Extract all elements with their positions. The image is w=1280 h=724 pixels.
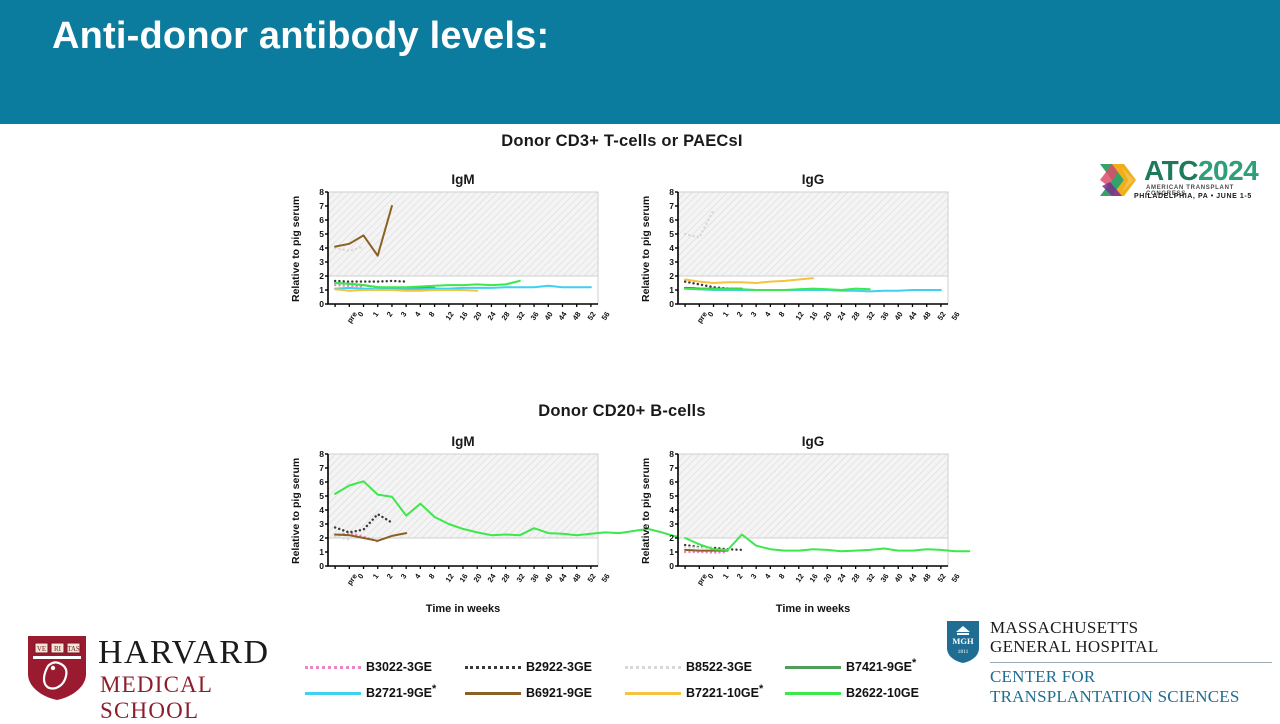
x-tick-label: 44 (907, 310, 919, 322)
x-tick-label: 8 (777, 572, 787, 581)
x-tick-label: 56 (599, 310, 611, 322)
y-axis-label: Relative to pig serum (290, 458, 302, 564)
mgh-center-line1: CENTER FOR (990, 667, 1239, 687)
x-tick-label: 28 (850, 572, 862, 584)
y-axis-label: Relative to pig serum (640, 196, 652, 302)
svg-text:TAS: TAS (67, 645, 80, 653)
x-tick-label: 24 (836, 572, 848, 584)
x-tick-label: 56 (949, 572, 961, 584)
panel-cd3-igm: IgMRelative to pig serum012345678pre0123… (282, 172, 612, 332)
x-tick-label: 32 (514, 310, 526, 322)
y-tick-label: 7 (319, 202, 324, 211)
x-tick-label: 3 (749, 310, 759, 319)
y-tick-label: 8 (669, 188, 674, 197)
header-banner: Anti-donor antibody levels: (0, 0, 1280, 124)
x-tick-label: 28 (850, 310, 862, 322)
x-tick-label: 4 (413, 310, 423, 319)
y-tick-label: 2 (669, 272, 674, 281)
x-axis-label: Time in weeks (328, 603, 598, 615)
x-tick-label: 36 (528, 572, 540, 584)
series-line (685, 552, 728, 553)
y-tick-label: 7 (669, 202, 674, 211)
x-tick-label: 52 (935, 572, 947, 584)
group-title-cd3: Donor CD3+ T-cells or PAECsI (282, 132, 962, 151)
panel-cd20-igg: IgGRelative to pig serum012345678pre0123… (632, 434, 962, 624)
atc-2024-logo: ATC2024 AMERICAN TRANSPLANT CONGRESS PHI… (1098, 158, 1270, 206)
y-tick-label: 1 (319, 548, 324, 557)
panel-title: IgM (328, 434, 598, 449)
x-tick-label: 44 (907, 572, 919, 584)
y-tick-label: 0 (319, 562, 324, 571)
x-tick-label: 16 (457, 572, 469, 584)
svg-text:1811: 1811 (958, 649, 969, 655)
x-tick-label: 32 (864, 310, 876, 322)
y-tick-label: 4 (669, 506, 674, 515)
y-tick-label: 7 (669, 464, 674, 473)
legend-label: B2622-10GE (846, 686, 919, 700)
legend-swatch (305, 666, 361, 669)
x-tick-label: 3 (749, 572, 759, 581)
x-tick-label: 48 (571, 310, 583, 322)
svg-text:MGH: MGH (952, 636, 974, 646)
legend-asterisk: * (912, 657, 916, 669)
harvard-medical-school-logo: VE RI TAS HARVARD MEDICAL SCHOOL (20, 632, 298, 704)
plot-area (328, 192, 600, 306)
x-tick-label: 32 (514, 572, 526, 584)
panel-title: IgM (328, 172, 598, 187)
harvard-shield-icon: VE RI TAS (26, 634, 88, 702)
x-tick-label: 56 (949, 310, 961, 322)
y-tick-label: 3 (669, 258, 674, 267)
legend-label: B7421-9GE* (846, 660, 916, 674)
x-tick-label: 20 (822, 310, 834, 322)
x-tick-label: 2 (735, 310, 745, 319)
x-tick-label: 1 (370, 310, 380, 319)
group-title-cd20: Donor CD20+ B-cells (282, 402, 962, 421)
panel-cd3-igg: IgGRelative to pig serum012345678pre0123… (632, 172, 962, 332)
x-tick-label: 4 (763, 310, 773, 319)
x-tick-label: 3 (399, 572, 409, 581)
mgh-center-name: CENTER FOR TRANSPLANTATION SCIENCES (990, 667, 1239, 707)
y-tick-label: 1 (319, 286, 324, 295)
y-tick-label: 4 (319, 506, 324, 515)
y-tick-label: 4 (669, 244, 674, 253)
x-tick-label: 24 (486, 572, 498, 584)
legend-label: B3022-3GE (366, 660, 432, 674)
y-tick-label: 3 (669, 520, 674, 529)
x-tick-label: 12 (443, 310, 455, 322)
y-tick-label: 8 (669, 450, 674, 459)
legend-swatch (305, 692, 361, 695)
x-tick-label: 52 (585, 310, 597, 322)
plot-area (328, 454, 600, 568)
x-tick-label: 24 (486, 310, 498, 322)
legend-swatch (465, 692, 521, 695)
harvard-subtitle: MEDICAL SCHOOL (100, 672, 298, 724)
y-tick-label: 0 (669, 562, 674, 571)
y-tick-label: 6 (319, 216, 324, 225)
y-tick-label: 6 (669, 216, 674, 225)
x-tick-label: 48 (921, 572, 933, 584)
x-tick-label: 40 (543, 572, 555, 584)
legend-label: B6921-9GE (526, 686, 592, 700)
x-tick-label: 20 (472, 572, 484, 584)
x-tick-label: 40 (893, 310, 905, 322)
x-tick-label: 32 (864, 572, 876, 584)
x-tick-label: 52 (585, 572, 597, 584)
x-tick-label: 8 (427, 310, 437, 319)
y-tick-label: 5 (669, 492, 674, 501)
x-tick-label: 2 (385, 310, 395, 319)
y-tick-label: 8 (319, 450, 324, 459)
x-tick-label: 4 (763, 572, 773, 581)
y-tick-label: 1 (669, 286, 674, 295)
legend-label: B2922-3GE (526, 660, 592, 674)
y-tick-label: 5 (669, 230, 674, 239)
x-tick-label: 28 (500, 572, 512, 584)
x-tick-label: 40 (543, 310, 555, 322)
y-axis-label: Relative to pig serum (290, 196, 302, 302)
legend-item: B2922-3GE (465, 660, 625, 674)
legend-label: B8522-3GE (686, 660, 752, 674)
plot-area (678, 192, 950, 306)
legend-item: B6921-9GE (465, 686, 625, 700)
legend-swatch (625, 666, 681, 669)
panel-title: IgG (678, 434, 948, 449)
x-tick-label: 48 (571, 572, 583, 584)
plot-area (678, 454, 950, 568)
x-tick-label: 16 (457, 310, 469, 322)
x-tick-label: 12 (443, 572, 455, 584)
page-title: Anti-donor antibody levels: (52, 15, 549, 58)
y-axis-label: Relative to pig serum (640, 458, 652, 564)
legend-label: B7221-10GE* (686, 686, 763, 700)
x-tick-label: 12 (793, 572, 805, 584)
y-tick-label: 3 (319, 520, 324, 529)
x-tick-label: 40 (893, 572, 905, 584)
x-tick-label: 4 (413, 572, 423, 581)
y-tick-label: 1 (669, 548, 674, 557)
svg-text:VE: VE (37, 645, 46, 653)
legend-swatch (785, 692, 841, 695)
x-tick-label: 56 (599, 572, 611, 584)
legend-item: B8522-3GE (625, 660, 785, 674)
figure-container: Donor CD3+ T-cells or PAECsI IgMRelative… (282, 128, 962, 708)
x-tick-label: 2 (735, 572, 745, 581)
legend-swatch (465, 666, 521, 669)
x-tick-label: 8 (777, 310, 787, 319)
x-tick-label: 2 (385, 572, 395, 581)
mgh-cts-logo: MGH 1811 MASSACHUSETTS GENERAL HOSPITAL … (946, 618, 1276, 710)
chart-legend: B3022-3GEB2922-3GEB8522-3GEB7421-9GE*B27… (305, 654, 945, 706)
y-tick-label: 6 (669, 478, 674, 487)
legend-swatch (625, 692, 681, 695)
x-tick-label: 1 (720, 310, 730, 319)
y-tick-label: 7 (319, 464, 324, 473)
x-tick-label: 36 (878, 310, 890, 322)
x-tick-label: 48 (921, 310, 933, 322)
x-tick-label: 24 (836, 310, 848, 322)
legend-item: B7421-9GE* (785, 660, 945, 674)
y-tick-label: 6 (319, 478, 324, 487)
harvard-wordmark: HARVARD (98, 634, 270, 672)
x-tick-label: 3 (399, 310, 409, 319)
y-tick-label: 2 (319, 272, 324, 281)
panel-cd20-igm: IgMRelative to pig serum012345678pre0123… (282, 434, 612, 624)
x-tick-label: 1 (370, 572, 380, 581)
mgh-shield-icon: MGH 1811 (946, 620, 980, 664)
legend-label: B2721-9GE* (366, 686, 436, 700)
legend-item: B7221-10GE* (625, 686, 785, 700)
legend-item: B3022-3GE (305, 660, 465, 674)
y-tick-label: 0 (669, 300, 674, 309)
atc-location: PHILADELPHIA, PA • JUNE 1-5 (1134, 193, 1252, 200)
y-tick-label: 2 (669, 534, 674, 543)
svg-text:RI: RI (54, 645, 62, 653)
legend-item: B2622-10GE (785, 686, 945, 700)
x-tick-label: 16 (807, 572, 819, 584)
x-tick-label: 36 (878, 572, 890, 584)
y-tick-label: 5 (319, 230, 324, 239)
y-tick-label: 2 (319, 534, 324, 543)
y-tick-label: 0 (319, 300, 324, 309)
mgh-name-line2: GENERAL HOSPITAL (990, 637, 1159, 656)
mgh-center-line2: TRANSPLANTATION SCIENCES (990, 687, 1239, 707)
x-tick-label: 28 (500, 310, 512, 322)
panel-title: IgG (678, 172, 948, 187)
x-tick-label: 1 (720, 572, 730, 581)
legend-swatch (785, 666, 841, 669)
x-tick-label: 44 (557, 310, 569, 322)
y-tick-label: 8 (319, 188, 324, 197)
legend-asterisk: * (759, 683, 763, 695)
series-line (335, 281, 520, 287)
y-tick-label: 5 (319, 492, 324, 501)
atc-letters: ATC (1144, 155, 1198, 186)
x-tick-label: 8 (427, 572, 437, 581)
y-tick-label: 3 (319, 258, 324, 267)
mgh-divider (990, 662, 1272, 663)
x-axis-label: Time in weeks (678, 603, 948, 615)
x-tick-label: 12 (793, 310, 805, 322)
y-tick-label: 4 (319, 244, 324, 253)
x-tick-label: 44 (557, 572, 569, 584)
legend-asterisk: * (432, 683, 436, 695)
series-line (685, 278, 813, 283)
x-tick-label: 20 (822, 572, 834, 584)
atc-wordmark: ATC2024 (1144, 156, 1258, 186)
x-tick-label: 52 (935, 310, 947, 322)
series-line (335, 281, 406, 282)
x-tick-label: 20 (472, 310, 484, 322)
x-tick-label: 16 (807, 310, 819, 322)
legend-item: B2721-9GE* (305, 686, 465, 700)
x-tick-label: 36 (528, 310, 540, 322)
atc-year: 2024 (1198, 155, 1258, 186)
mgh-hospital-name: MASSACHUSETTS GENERAL HOSPITAL (990, 618, 1159, 656)
series-line (685, 289, 870, 290)
mgh-name-line1: MASSACHUSETTS (990, 618, 1159, 637)
